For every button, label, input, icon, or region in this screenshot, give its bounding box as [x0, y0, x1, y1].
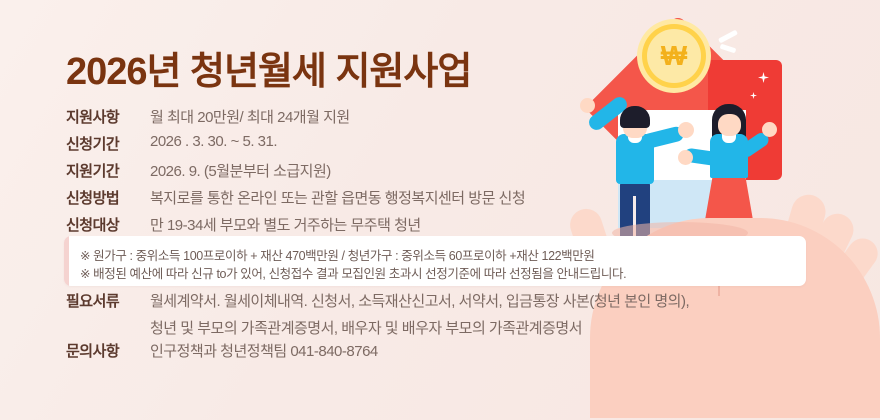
info-label: 신청대상: [66, 214, 150, 235]
page-title: 2026년 청년월세 지원사업: [66, 40, 471, 95]
info-value: 월세계약서. 월세이체내역. 신청서, 소득재산신고서, 서약서, 입금통장 사…: [150, 290, 689, 338]
info-value: 2026 . 3. 30. ~ 5. 31.: [150, 133, 277, 150]
note-line-budget: ※ 배정된 예산에 따라 신규 to가 있어, 신청접수 결과 모집인원 초과시…: [80, 263, 626, 282]
info-label: 문의사항: [66, 340, 150, 361]
info-row-support-period: 지원기간 2026. 9. (5월분부터 소급지원): [66, 160, 331, 181]
info-value: 복지로를 통한 온라인 또는 관할 읍면동 행정복지센터 방문 신청: [150, 187, 525, 208]
info-row-contact: 문의사항 인구정책과 청년정책팀 041-840-8764: [66, 340, 378, 361]
info-value: 인구정책과 청년정책팀 041-840-8764: [150, 340, 378, 361]
documents-line-2: 청년 및 부모의 가족관계증명서, 배우자 및 배우자 부모의 가족관계증명서: [150, 317, 689, 338]
info-label: 신청방법: [66, 187, 150, 208]
info-row-application-period: 신청기간 2026 . 3. 30. ~ 5. 31.: [66, 133, 277, 154]
info-label: 지원기간: [66, 160, 150, 181]
info-row-eligibility: 신청대상 만 19-34세 부모와 별도 거주하는 무주택 청년: [66, 214, 421, 235]
info-value: 만 19-34세 부모와 별도 거주하는 무주택 청년: [150, 214, 421, 235]
note-line-income: ※ 원가구 : 중위소득 100프로이하 + 재산 470백만원 / 청년가구 …: [80, 245, 595, 264]
info-value: 2026. 9. (5월분부터 소급지원): [150, 160, 331, 181]
note-accent-bar: [64, 236, 69, 286]
info-label: 신청기간: [66, 133, 150, 154]
info-row-application-method: 신청방법 복지로를 통한 온라인 또는 관할 읍면동 행정복지센터 방문 신청: [66, 187, 525, 208]
info-label: 지원사항: [66, 106, 150, 127]
info-row-support: 지원사항 월 최대 20만원/ 최대 24개월 지원: [66, 106, 350, 127]
info-row-documents: 필요서류 월세계약서. 월세이체내역. 신청서, 소득재산신고서, 서약서, 입…: [66, 290, 689, 338]
info-label: 필요서류: [66, 290, 150, 311]
note-box: ※ 원가구 : 중위소득 100프로이하 + 재산 470백만원 / 청년가구 …: [64, 236, 806, 286]
info-value: 월 최대 20만원/ 최대 24개월 지원: [150, 106, 350, 127]
documents-line-1: 월세계약서. 월세이체내역. 신청서, 소득재산신고서, 서약서, 입금통장 사…: [150, 290, 689, 311]
poster-root: ₩ 2026년 청년월세 지원사: [0, 0, 880, 420]
text-content: 2026년 청년월세 지원사업 지원사항 월 최대 20만원/ 최대 24개월 …: [0, 0, 880, 420]
